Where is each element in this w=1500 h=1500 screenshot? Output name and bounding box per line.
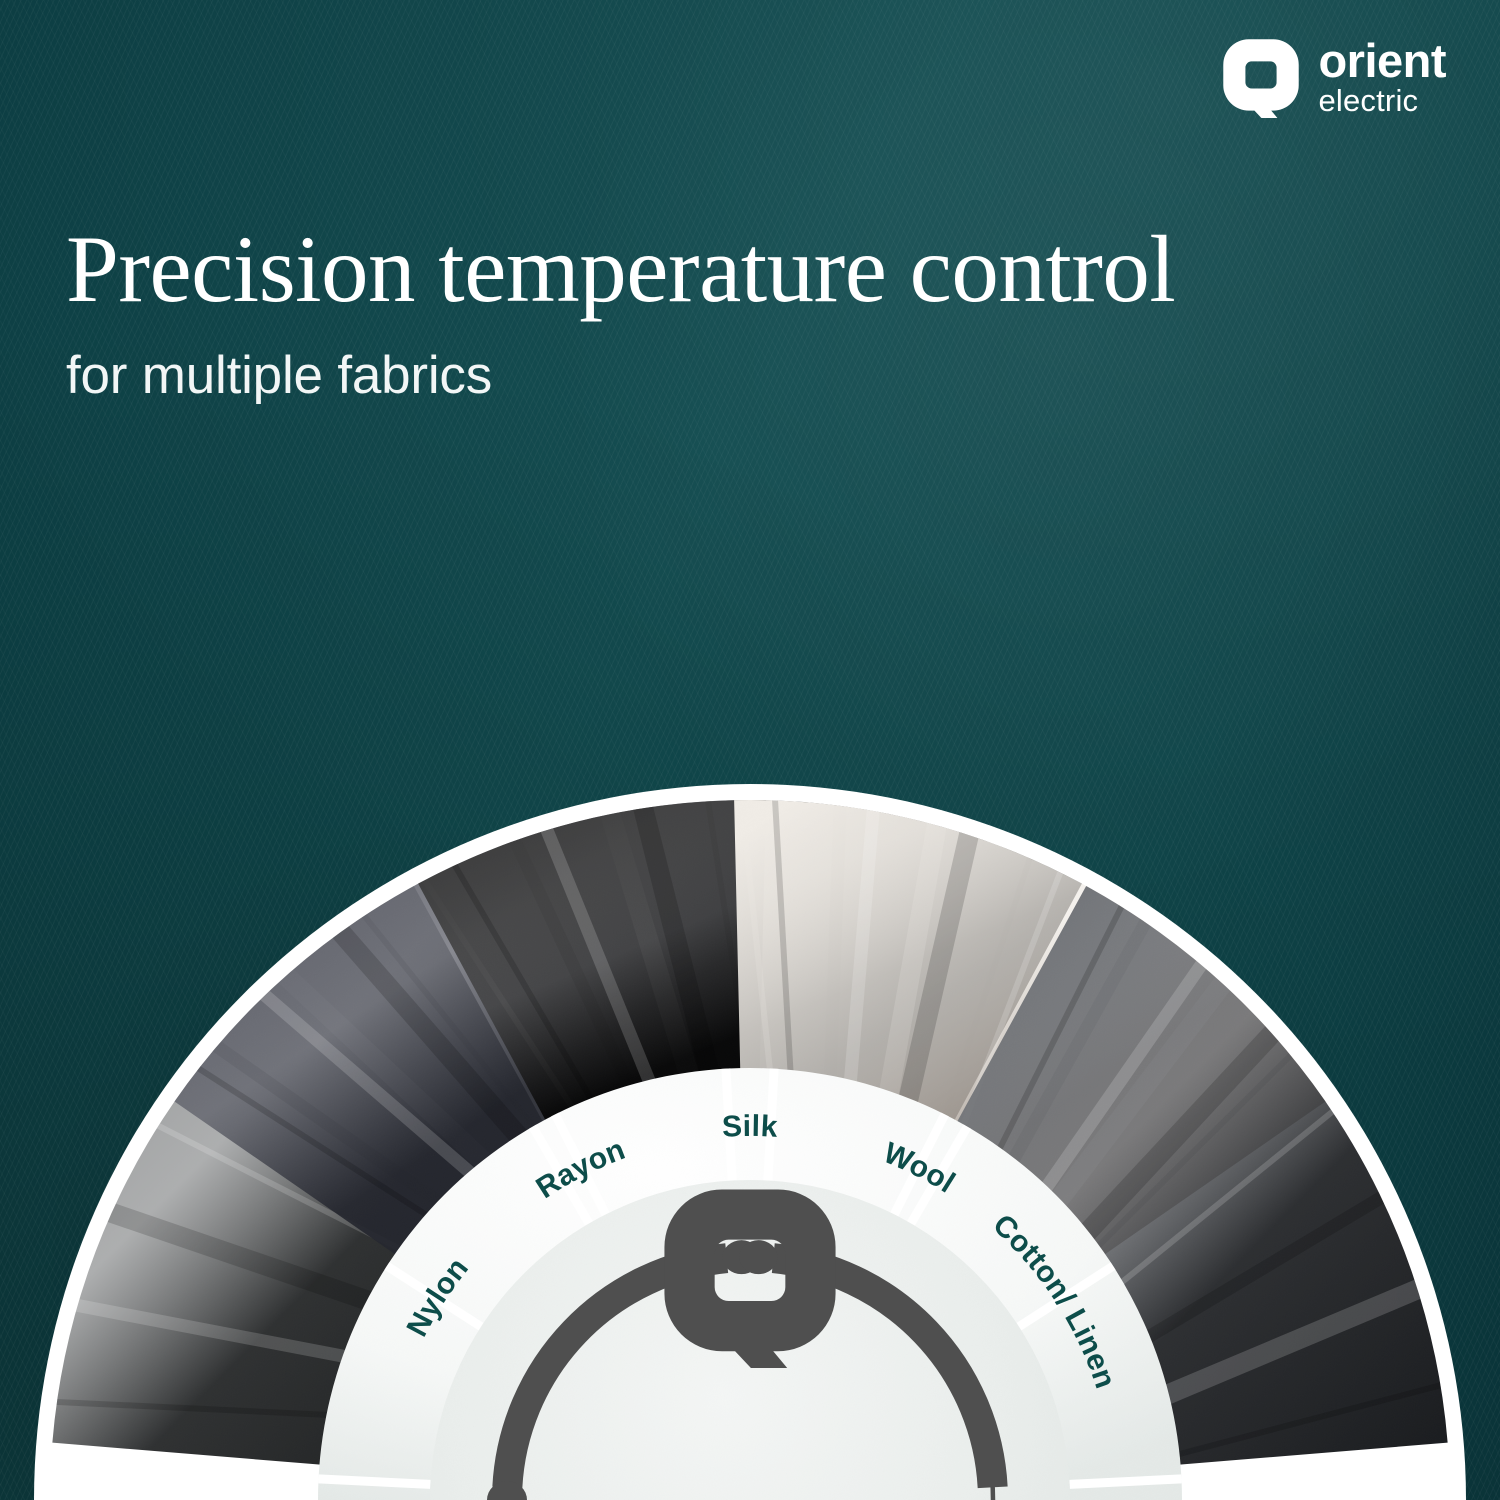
page-title: Precision temperature control — [66, 222, 1466, 317]
headline-block: Precision temperature control for multip… — [66, 222, 1466, 406]
page-subtitle: for multiple fabrics — [66, 345, 1466, 406]
brand-name-line2: electric — [1318, 86, 1446, 116]
brand-name-line1: orient — [1318, 38, 1446, 83]
orient-q-logo-icon — [1220, 36, 1302, 118]
brand-logo: orient electric — [1220, 36, 1446, 118]
brand-wordmark: orient electric — [1318, 38, 1446, 116]
